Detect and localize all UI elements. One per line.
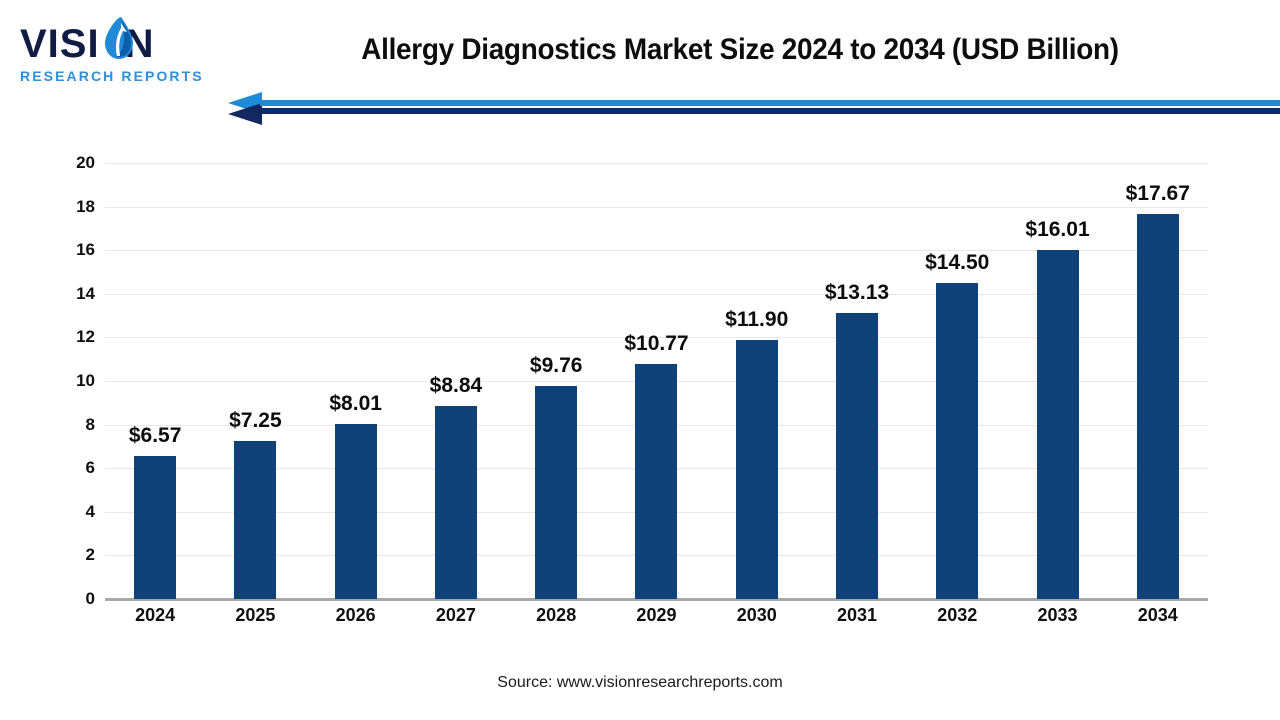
x-axis-tick-label: 2031: [837, 605, 877, 626]
bar-value-label: $13.13: [825, 281, 889, 305]
x-axis-tick-label: 2030: [737, 605, 777, 626]
logo-subtitle: RESEARCH REPORTS: [20, 68, 210, 84]
bar-group: $8.842027: [406, 163, 506, 599]
bar-value-label: $10.77: [624, 332, 688, 356]
bar-value-label: $8.84: [430, 374, 483, 398]
chart-page: VISIN RESEARCH REPORTS Allergy Diagnosti…: [0, 0, 1280, 720]
vision-research-reports-logo: VISIN RESEARCH REPORTS: [20, 22, 210, 98]
bar-value-label: $8.01: [329, 392, 382, 416]
bar[interactable]: [134, 456, 176, 599]
y-axis-tick-label: 18: [35, 197, 95, 217]
x-axis-tick-label: 2028: [536, 605, 576, 626]
x-axis-tick-label: 2029: [636, 605, 676, 626]
y-axis-tick-label: 14: [35, 284, 95, 304]
bar-value-label: $9.76: [530, 354, 583, 378]
divider-arrow: [0, 92, 1280, 126]
left-arrow-icon-bottom: [228, 103, 262, 125]
bar-series: $6.572024$7.252025$8.012026$8.842027$9.7…: [105, 163, 1208, 599]
bar[interactable]: [635, 364, 677, 599]
bar[interactable]: [736, 340, 778, 599]
y-axis-tick-label: 8: [35, 415, 95, 435]
bar-value-label: $7.25: [229, 409, 282, 433]
chart-plot-area: 02468101214161820 $6.572024$7.252025$8.0…: [105, 163, 1208, 599]
bar-group: $17.672034: [1108, 163, 1208, 599]
bar[interactable]: [936, 283, 978, 599]
bar[interactable]: [234, 441, 276, 599]
x-axis-tick-label: 2026: [336, 605, 376, 626]
bar-group: $11.902030: [707, 163, 807, 599]
bar-group: $16.012033: [1007, 163, 1107, 599]
bar[interactable]: [836, 313, 878, 599]
x-axis-tick-label: 2033: [1037, 605, 1077, 626]
bar-group: $10.772029: [606, 163, 706, 599]
y-axis-tick-label: 16: [35, 240, 95, 260]
x-axis-tick-label: 2032: [937, 605, 977, 626]
y-axis-tick-label: 0: [35, 589, 95, 609]
x-axis-tick-label: 2034: [1138, 605, 1178, 626]
logo-wordmark-pre: VISI: [20, 22, 100, 66]
y-axis-tick-label: 12: [35, 327, 95, 347]
bar-value-label: $6.57: [129, 424, 182, 448]
bar-group: $8.012026: [306, 163, 406, 599]
bar-value-label: $17.67: [1126, 182, 1190, 206]
source-caption: Source: www.visionresearchreports.com: [0, 674, 1280, 692]
y-axis-tick-label: 6: [35, 458, 95, 478]
bar-value-label: $14.50: [925, 251, 989, 275]
logo-wordmark: VISIN: [20, 22, 210, 66]
y-axis-tick-label: 2: [35, 545, 95, 565]
bar-group: $9.762028: [506, 163, 606, 599]
bar-group: $6.572024: [105, 163, 205, 599]
bar-group: $7.252025: [205, 163, 305, 599]
x-axis-tick-label: 2027: [436, 605, 476, 626]
x-axis-tick-label: 2025: [235, 605, 275, 626]
y-axis-tick-label: 10: [35, 371, 95, 391]
page-title: Allergy Diagnostics Market Size 2024 to …: [252, 33, 1229, 67]
x-axis-tick-label: 2024: [135, 605, 175, 626]
bar-group: $13.132031: [807, 163, 907, 599]
divider-bar-bottom: [260, 108, 1280, 114]
bar-value-label: $16.01: [1025, 218, 1089, 242]
bar[interactable]: [1137, 214, 1179, 599]
bar[interactable]: [435, 406, 477, 599]
divider-bar-top: [260, 100, 1280, 106]
y-axis-tick-label: 20: [35, 153, 95, 173]
bar[interactable]: [1037, 250, 1079, 599]
bar[interactable]: [535, 386, 577, 599]
bar-group: $14.502032: [907, 163, 1007, 599]
y-axis-tick-label: 4: [35, 502, 95, 522]
bar[interactable]: [335, 424, 377, 599]
bar-value-label: $11.90: [725, 308, 788, 332]
water-drop-arrow-icon: [104, 16, 134, 62]
